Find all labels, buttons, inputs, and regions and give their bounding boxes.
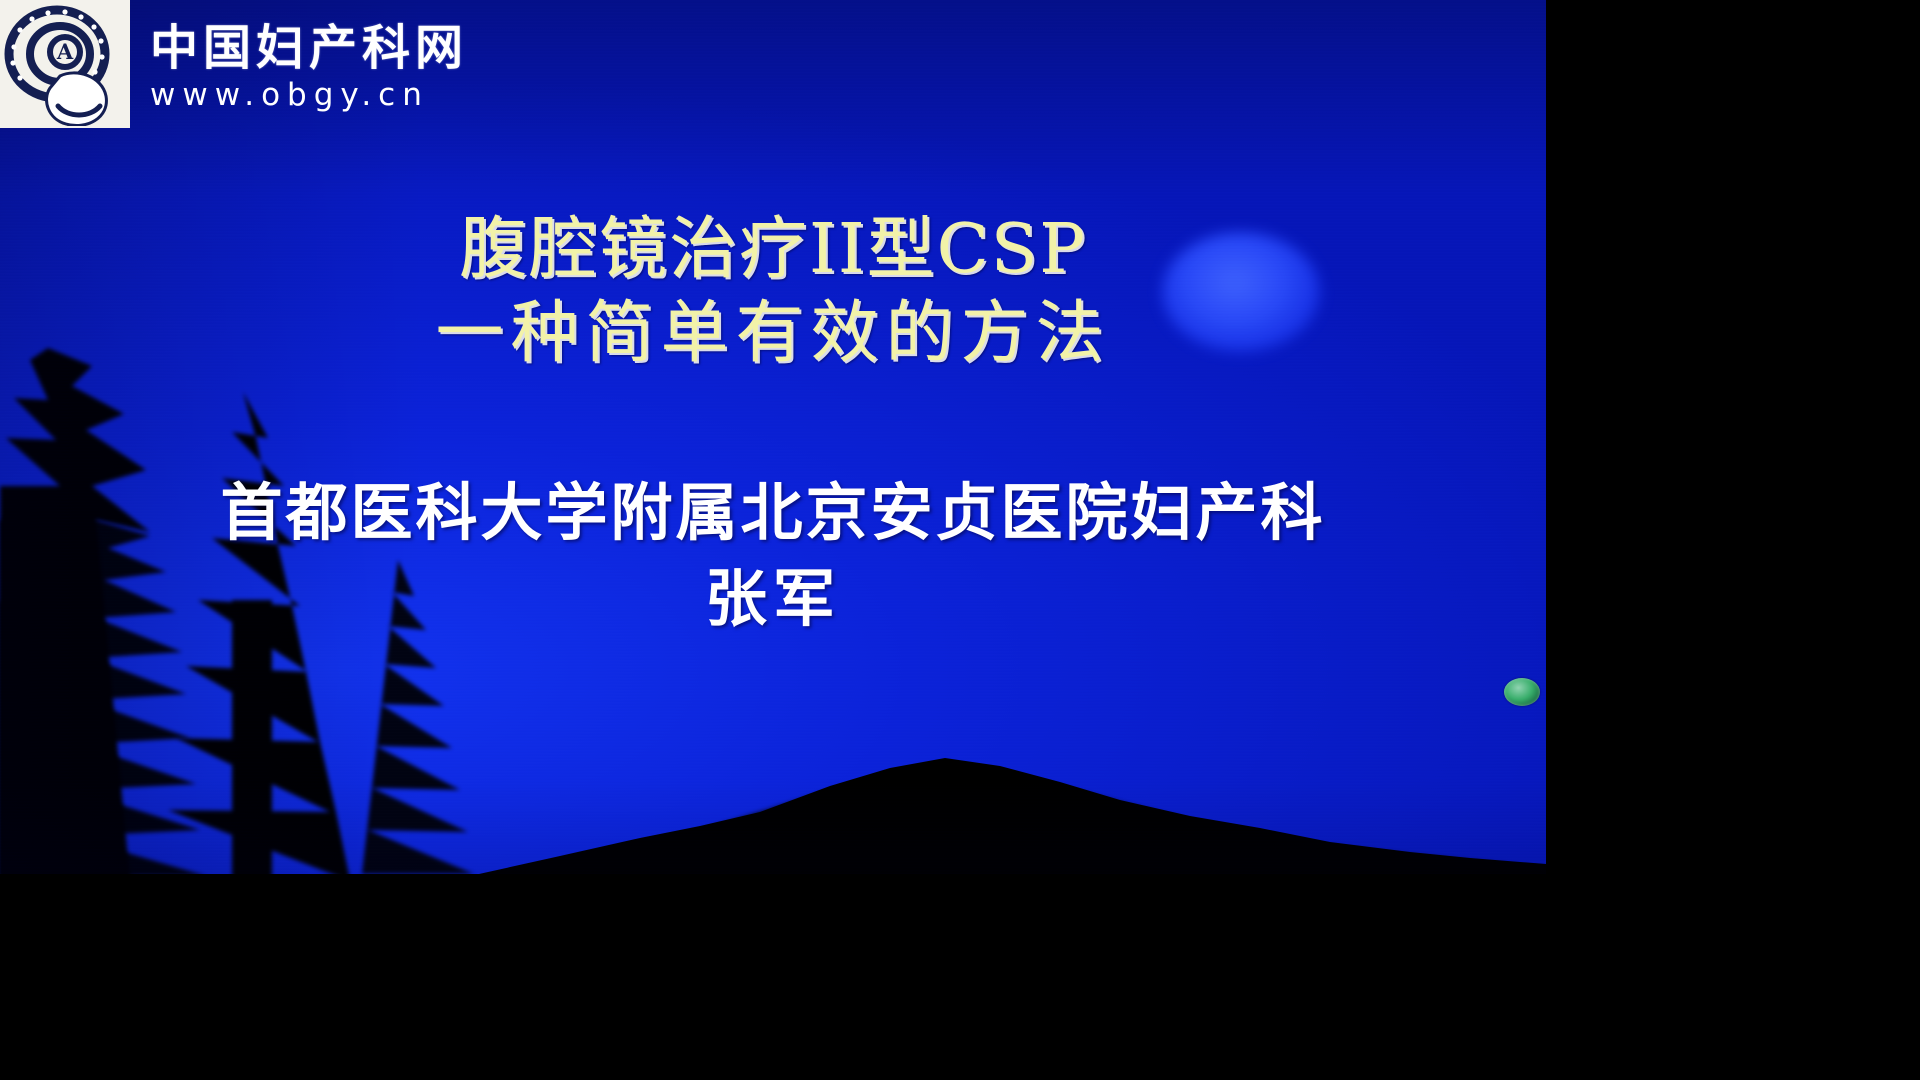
green-oval-badge-icon [1504,678,1540,706]
presenter-name: 张军 [0,556,1546,642]
letterbox-bottom [0,874,1920,1080]
title-line-2: 一种简单有效的方法 [0,292,1546,376]
affiliation-line: 首都医科大学附属北京安贞医院妇产科 [0,470,1546,556]
presentation-slide: A 中国妇产科网 www.obgy.cn 腹腔镜治疗II型CSP 一种简单有效的… [0,0,1920,1080]
watermark-site-name: 中国妇产科网 [150,22,468,74]
slide-body: 首都医科大学附属北京安贞医院妇产科 张军 [0,470,1546,642]
watermark-url: www.obgy.cn [150,78,429,112]
svg-text:A: A [56,39,74,64]
title-line-1: 腹腔镜治疗II型CSP [0,208,1546,292]
obgy-logo-icon: A [2,2,128,126]
slide-title: 腹腔镜治疗II型CSP 一种简单有效的方法 [0,208,1546,376]
logo-background: A [0,0,130,128]
watermark: A 中国妇产科网 www.obgy.cn [0,0,560,130]
